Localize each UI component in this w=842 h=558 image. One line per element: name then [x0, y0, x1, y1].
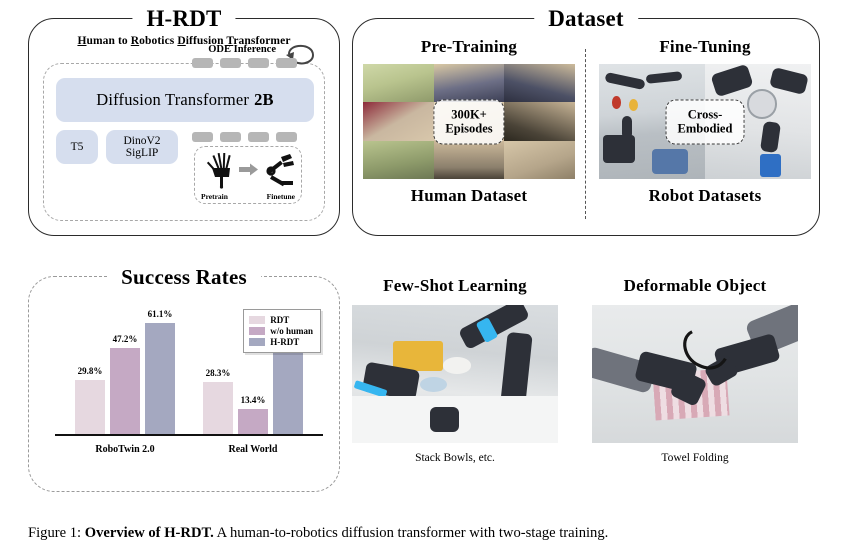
bar-rdt: 28.3% [203, 382, 233, 433]
bar-value-label: 47.2% [113, 334, 138, 344]
pretrain-label: Pretrain [201, 192, 228, 201]
chart-x-axis [55, 434, 323, 436]
legend-swatch [249, 327, 265, 335]
cable-icon [662, 327, 744, 390]
cross-embodied-badge: Cross- Embodied [666, 99, 745, 144]
bar-rdt: 29.8% [75, 380, 105, 434]
robot-datasets-label: Robot Datasets [599, 186, 811, 206]
token-row-top [192, 58, 297, 68]
bar-value-label: 13.4% [241, 395, 266, 405]
bar-value-label: 61.1% [148, 309, 173, 319]
encoder-siglip-label: SigLIP [126, 147, 159, 160]
token-square [220, 132, 241, 142]
chart-title: Success Rates [107, 263, 261, 291]
token-square [192, 132, 213, 142]
pretrain-finetune-box: Pretrain Finetune [194, 146, 302, 204]
token-square [220, 58, 241, 68]
pretrain-finetune-icons [195, 149, 303, 191]
bar-group: 29.8%47.2%61.1%RoboTwin 2.0 [61, 307, 189, 434]
hand-icon [207, 153, 231, 189]
ode-inference-label: ODE Inference [208, 44, 276, 55]
bar-w-o-human: 47.2% [110, 348, 140, 433]
deformable-object-image [592, 305, 798, 443]
figure-caption: Figure 1: Overview of H-RDT. A human-to-… [28, 524, 818, 542]
human-clip-cell [504, 102, 575, 140]
human-clip-cell [363, 141, 434, 179]
legend-swatch [249, 338, 265, 346]
few-shot-learning-image [352, 305, 558, 443]
legend-swatch [249, 316, 265, 324]
hrdt-inner-dashed-box: ODE Inference Diffusion Transformer2B T5… [43, 63, 325, 221]
bar-fill [238, 409, 268, 433]
diffusion-transformer-size: 2B [254, 90, 274, 110]
hrdt-panel: H-RDT Human to Robotics Diffusion Transf… [28, 18, 340, 236]
encoder-box-dinov2-siglip: DinoV2 SigLIP [106, 130, 178, 164]
dataset-divider [585, 49, 586, 219]
few-shot-learning-caption: Stack Bowls, etc. [352, 452, 558, 464]
token-square [248, 132, 269, 142]
token-square [192, 58, 213, 68]
few-shot-learning-demo: Few-Shot Learning Stack Bowls, etc. [352, 276, 558, 464]
arrow-right-icon [239, 164, 258, 176]
legend-label: H-RDT [270, 337, 299, 347]
human-clip-cell [363, 102, 434, 140]
category-label: RoboTwin 2.0 [95, 444, 154, 455]
human-clip-cell [434, 64, 505, 102]
token-square [276, 132, 297, 142]
pretraining-heading: Pre-Training [363, 37, 575, 57]
legend-item[interactable]: RDT [249, 315, 313, 325]
legend-label: w/o human [270, 326, 313, 336]
finetuning-column: Fine-Tuning [599, 37, 811, 206]
bar-w-o-human: 13.4% [238, 409, 268, 433]
bar-fill [75, 380, 105, 434]
human-clip-cell [434, 141, 505, 179]
category-label: Real World [229, 444, 278, 455]
finetuning-heading: Fine-Tuning [599, 37, 811, 57]
dataset-panel: Dataset Pre-Training 300K+ Episodes Hu [352, 18, 820, 236]
encoder-dinov2-label: DinoV2 [123, 135, 160, 148]
diffusion-transformer-text: Diffusion Transformer [96, 90, 249, 110]
diffusion-transformer-box: Diffusion Transformer2B [56, 78, 314, 122]
bar-value-label: 28.3% [206, 368, 231, 378]
chart-legend: RDTw/o humanH-RDT [243, 309, 321, 353]
deformable-object-demo: Deformable Object Towel Folding [592, 276, 798, 464]
bar-value-label: 29.8% [78, 366, 103, 376]
legend-label: RDT [270, 315, 289, 325]
token-row-bottom [192, 132, 297, 142]
success-rates-panel: Success Rates 29.8%47.2%61.1%RoboTwin 2.… [28, 276, 340, 492]
encoder-box-t5: T5 [56, 130, 98, 164]
token-square [276, 58, 297, 68]
bar-fill [203, 382, 233, 433]
episodes-badge: 300K+ Episodes [433, 99, 504, 144]
human-dataset-label: Human Dataset [363, 186, 575, 206]
robot-dataset-image-grid: Cross- Embodied [599, 64, 811, 179]
robot-arm-icon [266, 154, 294, 186]
bar-h-rdt: 61.1% [145, 323, 175, 434]
human-clip-cell [504, 141, 575, 179]
pretraining-column: Pre-Training 300K+ Episodes Human Datase… [363, 37, 575, 206]
human-dataset-image-grid: 300K+ Episodes [363, 64, 575, 179]
dataset-panel-title: Dataset [534, 5, 638, 33]
human-clip-cell [363, 64, 434, 102]
legend-item[interactable]: H-RDT [249, 337, 313, 347]
bar-fill [110, 348, 140, 433]
hrdt-panel-title: H-RDT [132, 5, 235, 33]
deformable-object-caption: Towel Folding [592, 452, 798, 464]
figure-caption-rest: A human-to-robotics diffusion transforme… [214, 525, 609, 541]
few-shot-learning-heading: Few-Shot Learning [352, 276, 558, 296]
legend-item[interactable]: w/o human [249, 326, 313, 336]
encoder-t5-label: T5 [71, 141, 84, 154]
finetune-label: Finetune [267, 192, 295, 201]
human-clip-cell [504, 64, 575, 102]
bar-fill [145, 323, 175, 434]
figure-page: H-RDT Human to Robotics Diffusion Transf… [0, 0, 842, 558]
deformable-object-heading: Deformable Object [592, 276, 798, 296]
figure-caption-bold: Overview of H-RDT. [85, 525, 214, 541]
token-square [248, 58, 269, 68]
figure-caption-prefix: Figure 1: [28, 525, 85, 541]
